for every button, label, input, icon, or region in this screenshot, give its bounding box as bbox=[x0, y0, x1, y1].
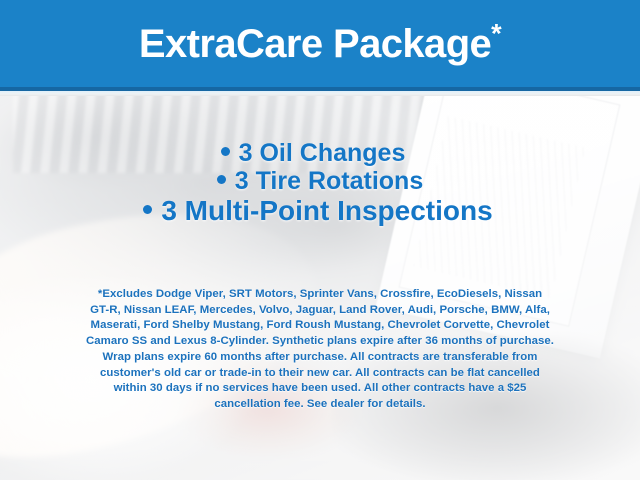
bullet-icon bbox=[217, 175, 226, 184]
header-bar: ExtraCare Package* bbox=[0, 0, 640, 91]
page-title: ExtraCare Package* bbox=[139, 24, 501, 68]
disclaimer-line: within 30 days if no services have been … bbox=[30, 381, 610, 397]
bullet-icon bbox=[143, 205, 152, 214]
extracare-promo-banner: ExtraCare Package* 3 Oil Changes 3 Tire … bbox=[0, 0, 640, 480]
page-title-asterisk: * bbox=[491, 18, 501, 48]
disclaimer-text: *Excludes Dodge Viper, SRT Motors, Sprin… bbox=[30, 287, 610, 413]
benefit-item: 3 Tire Rotations bbox=[0, 167, 640, 195]
page-title-text: ExtraCare Package bbox=[139, 22, 491, 66]
disclaimer-line: Camaro SS and Lexus 8-Cylinder. Syntheti… bbox=[30, 334, 610, 350]
disclaimer-line: GT-R, Nissan LEAF, Mercedes, Volvo, Jagu… bbox=[30, 303, 610, 319]
benefits-list: 3 Oil Changes 3 Tire Rotations 3 Multi-P… bbox=[0, 139, 640, 226]
benefit-item: 3 Multi-Point Inspections bbox=[0, 195, 640, 226]
disclaimer-line: Maserati, Ford Shelby Mustang, Ford Rous… bbox=[30, 318, 610, 334]
main-content: 3 Oil Changes 3 Tire Rotations 3 Multi-P… bbox=[0, 91, 640, 480]
benefit-item: 3 Oil Changes bbox=[0, 139, 640, 167]
benefit-label: 3 Multi-Point Inspections bbox=[161, 195, 492, 226]
benefit-label: 3 Tire Rotations bbox=[235, 167, 423, 195]
disclaimer-line: customer's old car or trade-in to their … bbox=[30, 366, 610, 382]
benefit-label: 3 Oil Changes bbox=[239, 139, 406, 167]
disclaimer-line: cancellation fee. See dealer for details… bbox=[30, 397, 610, 413]
disclaimer-line: Wrap plans expire 60 months after purcha… bbox=[30, 350, 610, 366]
bullet-icon bbox=[221, 147, 230, 156]
disclaimer-line: *Excludes Dodge Viper, SRT Motors, Sprin… bbox=[30, 287, 610, 303]
